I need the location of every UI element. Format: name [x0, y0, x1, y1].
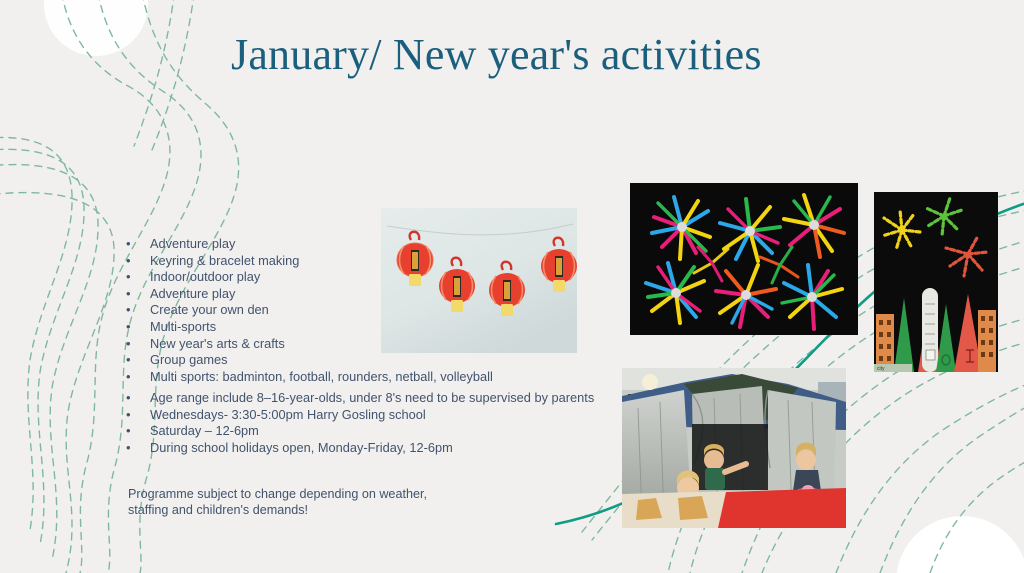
list-item: • Multi sports: badminton, football, rou… [126, 369, 626, 386]
bullet-icon: • [126, 302, 150, 319]
bullet-icon: • [126, 423, 150, 440]
bullet-icon: • [126, 236, 150, 253]
bullet-icon: • [126, 319, 150, 336]
white-circle-blob-bottom-right [896, 516, 1024, 573]
bullet-icon: • [126, 269, 150, 286]
list-item: • Saturday – 12-6pm [126, 423, 646, 440]
list-item-label: Wednesdays- 3:30-5:00pm Harry Gosling sc… [150, 407, 646, 424]
list-item: • Age range include 8–16-year-olds, unde… [126, 390, 646, 407]
list-item: • Group games [126, 352, 626, 369]
list-item-label: Age range include 8–16-year-olds, under … [150, 390, 646, 407]
bullet-icon: • [126, 286, 150, 303]
list-item-label: Multi sports: badminton, football, round… [150, 369, 626, 386]
bullet-icon: • [126, 369, 150, 386]
svg-text:city: city [877, 366, 885, 372]
list-item: • Wednesdays- 3:30-5:00pm Harry Gosling … [126, 407, 646, 424]
blanket-den-photo [622, 368, 846, 528]
schedule-bullet-list: • Age range include 8–16-year-olds, unde… [126, 390, 646, 456]
footer-note: Programme subject to change depending on… [128, 486, 488, 519]
bullet-icon: • [126, 352, 150, 369]
slide-canvas: January/ New year's activities • Adventu… [0, 0, 1024, 573]
list-item-label: During school holidays open, Monday-Frid… [150, 440, 646, 457]
list-item-label: Saturday – 12-6pm [150, 423, 646, 440]
footer-note-line-1: Programme subject to change depending on… [128, 486, 488, 502]
bullet-icon: • [126, 336, 150, 353]
cityscape-fireworks-art-photo: city [874, 192, 998, 372]
bullet-icon: • [126, 253, 150, 270]
bullet-icon: • [126, 407, 150, 424]
white-circle-blob-top-left [44, 0, 148, 56]
footer-note-line-2: staffing and children's demands! [128, 502, 488, 518]
paper-lanterns-photo [381, 208, 577, 353]
list-item: • During school holidays open, Monday-Fr… [126, 440, 646, 457]
firework-splatter-art-photo [630, 183, 858, 335]
bullet-icon: • [126, 390, 150, 407]
page-title: January/ New year's activities [231, 28, 791, 83]
list-item-label: Group games [150, 352, 626, 369]
bullet-icon: • [126, 440, 150, 457]
